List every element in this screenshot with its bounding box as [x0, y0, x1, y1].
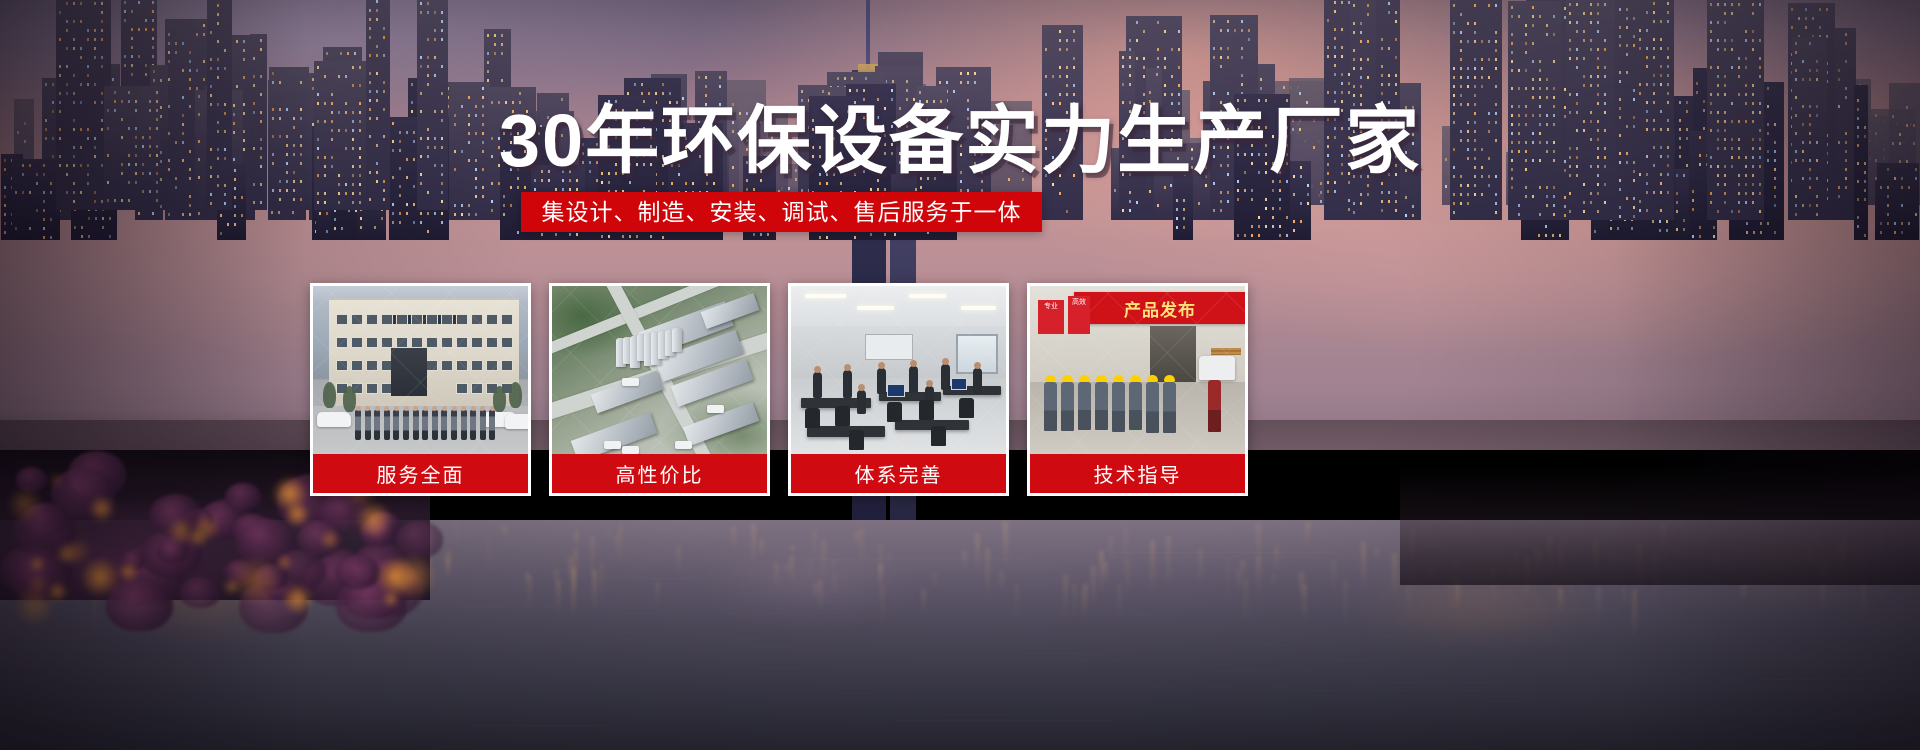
window-light	[1045, 48, 1047, 51]
window-light	[1731, 48, 1733, 51]
window-light	[1283, 86, 1285, 89]
window-light	[705, 76, 707, 79]
window-light	[1653, 74, 1655, 77]
window-light	[1511, 6, 1513, 9]
window-light	[434, 29, 436, 32]
window-light	[1546, 87, 1548, 90]
window-light	[374, 226, 376, 229]
window-light	[1569, 12, 1571, 15]
window-light	[974, 81, 976, 84]
window-light	[1532, 15, 1534, 18]
window-light	[441, 92, 443, 95]
window-light	[1626, 53, 1628, 56]
window-light	[1731, 66, 1733, 69]
window-light	[1059, 75, 1061, 78]
window-light	[1279, 225, 1281, 228]
window-light	[1157, 57, 1159, 60]
window-light	[662, 92, 664, 95]
window-light	[1453, 76, 1455, 79]
window-light	[1816, 69, 1818, 72]
window-light	[1646, 209, 1648, 212]
window-light	[1248, 29, 1250, 32]
window-light	[243, 76, 245, 79]
window-light	[203, 33, 205, 36]
window-light	[1626, 17, 1628, 20]
window-light	[1532, 24, 1534, 27]
window-light	[946, 81, 948, 84]
window-light	[1334, 28, 1336, 31]
window-light	[1511, 42, 1513, 45]
window-light	[1066, 93, 1068, 96]
window-light	[1381, 200, 1383, 203]
window-light	[1511, 33, 1513, 36]
window-light	[967, 81, 969, 84]
window-light	[1717, 39, 1719, 42]
window-light	[1251, 189, 1253, 192]
window-light	[1198, 202, 1200, 205]
window-light	[1164, 66, 1166, 69]
window-light	[1553, 33, 1555, 36]
window-light	[1864, 189, 1866, 192]
window-light	[1802, 204, 1804, 207]
window-light	[487, 70, 489, 73]
window-light	[1360, 193, 1362, 196]
window-light	[1633, 17, 1635, 20]
window-light	[1066, 48, 1068, 51]
window-light	[482, 186, 484, 189]
window-light	[1388, 191, 1390, 194]
window-light	[1353, 94, 1355, 97]
window-light	[260, 39, 262, 42]
window-light	[1481, 85, 1483, 88]
window-light	[1901, 231, 1903, 234]
window-light	[1864, 234, 1866, 237]
window-light	[271, 211, 273, 214]
window-light	[1460, 202, 1462, 205]
window-light	[1767, 87, 1769, 90]
window-light	[441, 200, 443, 203]
window-light	[196, 33, 198, 36]
window-light	[1597, 48, 1599, 51]
window-light	[1353, 31, 1355, 34]
window-light	[1590, 201, 1592, 204]
window-light	[1546, 195, 1548, 198]
window-light	[4, 195, 6, 198]
window-light	[319, 212, 321, 215]
window-light	[1272, 216, 1274, 219]
window-light	[1660, 38, 1662, 41]
window-light	[1272, 207, 1274, 210]
window-light	[1597, 192, 1599, 195]
window-light	[1590, 84, 1592, 87]
window-light	[1745, 66, 1747, 69]
window-light	[411, 83, 413, 86]
window-light	[1260, 87, 1262, 90]
window-light	[1590, 192, 1592, 195]
window-light	[1327, 55, 1329, 58]
window-light	[1488, 4, 1490, 7]
window-light	[1717, 84, 1719, 87]
window-light	[203, 60, 205, 63]
window-light	[1724, 39, 1726, 42]
window-light	[1590, 75, 1592, 78]
window-light	[1653, 11, 1655, 14]
window-light	[1653, 2, 1655, 5]
window-light	[138, 212, 140, 215]
window-light	[1710, 201, 1712, 204]
window-light	[340, 52, 342, 55]
window-light	[1251, 198, 1253, 201]
window-light	[220, 214, 222, 217]
window-light	[427, 83, 429, 86]
window-light	[1759, 3, 1761, 6]
window-light	[241, 196, 243, 199]
window-light	[1597, 66, 1599, 69]
window-light	[1845, 33, 1847, 36]
window-light	[1474, 193, 1476, 196]
window-light	[182, 69, 184, 72]
window-light	[1272, 189, 1274, 192]
window-light	[1724, 3, 1726, 6]
window-light	[1525, 186, 1527, 189]
window-light	[236, 40, 238, 43]
window-light	[1546, 78, 1548, 81]
window-light	[1453, 193, 1455, 196]
window-light	[1334, 37, 1336, 40]
window-light	[1495, 211, 1497, 214]
window-light	[1073, 30, 1075, 33]
window-light	[1129, 209, 1131, 212]
window-light	[1908, 222, 1910, 225]
window-light	[1731, 210, 1733, 213]
window-light	[1759, 66, 1761, 69]
window-light	[1539, 69, 1541, 72]
window-light	[1460, 184, 1462, 187]
window-light	[1569, 48, 1571, 51]
window-light	[1066, 39, 1068, 42]
window-light	[1367, 40, 1369, 43]
window-light	[1279, 198, 1281, 201]
window-light	[1395, 83, 1397, 86]
window-light	[15, 191, 17, 194]
window-light	[1812, 17, 1814, 20]
window-light	[43, 200, 45, 203]
window-light	[1752, 39, 1754, 42]
window-light	[1234, 29, 1236, 32]
window-light	[1143, 30, 1145, 33]
window-light	[1692, 190, 1694, 193]
window-light	[1646, 65, 1648, 68]
window-light	[1838, 78, 1840, 81]
window-light	[1594, 230, 1596, 233]
window-light	[1576, 30, 1578, 33]
window-light	[569, 188, 571, 191]
window-light	[1258, 216, 1260, 219]
window-light	[1667, 47, 1669, 50]
window-light	[1604, 39, 1606, 42]
window-light	[189, 69, 191, 72]
window-light	[1639, 83, 1641, 86]
window-light	[1826, 8, 1828, 11]
window-light	[1583, 57, 1585, 60]
window-light	[1460, 40, 1462, 43]
window-light	[1518, 204, 1520, 207]
window-light	[1066, 75, 1068, 78]
window-light	[1646, 11, 1648, 14]
window-light	[1460, 49, 1462, 52]
window-light	[1626, 26, 1628, 29]
window-light	[1213, 209, 1215, 212]
window-light	[4, 213, 6, 216]
window-light	[1227, 20, 1229, 23]
window-light	[1251, 225, 1253, 228]
window-light	[1795, 42, 1797, 45]
window-light	[487, 52, 489, 55]
window-light	[1360, 67, 1362, 70]
window-light	[1286, 216, 1288, 219]
window-light	[854, 236, 856, 239]
window-light	[1171, 93, 1173, 96]
window-light	[1667, 92, 1669, 95]
window-light	[1237, 198, 1239, 201]
window-light	[420, 221, 422, 224]
window-light	[1753, 231, 1755, 234]
window-light	[1538, 234, 1540, 237]
window-light	[1220, 47, 1222, 50]
window-light	[43, 218, 45, 221]
window-light	[74, 226, 76, 229]
window-light	[1241, 74, 1243, 77]
window-light	[541, 233, 543, 236]
window-light	[1894, 222, 1896, 225]
window-light	[1795, 213, 1797, 216]
window-light	[1059, 48, 1061, 51]
window-light	[1710, 30, 1712, 33]
window-light	[1805, 8, 1807, 11]
window-light	[1597, 210, 1599, 213]
window-light	[1731, 39, 1733, 42]
window-light	[189, 78, 191, 81]
window-light	[1279, 234, 1281, 237]
window-light	[1692, 199, 1694, 202]
window-light	[576, 188, 578, 191]
window-light	[1660, 209, 1662, 212]
window-light	[1353, 22, 1355, 25]
window-light	[1745, 201, 1747, 204]
window-light	[1495, 31, 1497, 34]
window-light	[1597, 3, 1599, 6]
window-light	[354, 52, 356, 55]
window-light	[1646, 56, 1648, 59]
window-light	[392, 203, 394, 206]
window-light	[1576, 93, 1578, 96]
window-light	[317, 201, 319, 204]
window-light	[1286, 234, 1288, 237]
window-light	[906, 80, 908, 83]
window-light	[112, 78, 114, 81]
window-light	[1710, 66, 1712, 69]
window-light	[719, 76, 721, 79]
window-light	[1901, 204, 1903, 207]
window-light	[1136, 21, 1138, 24]
window-light	[434, 38, 436, 41]
window-light	[1327, 19, 1329, 22]
window-light	[15, 227, 17, 230]
window-light	[1164, 84, 1166, 87]
window-light	[1220, 191, 1222, 194]
window-light	[243, 49, 245, 52]
window-light	[1619, 35, 1621, 38]
window-light	[1334, 64, 1336, 67]
window-light	[884, 188, 886, 191]
window-light	[753, 233, 755, 236]
window-light	[1738, 201, 1740, 204]
window-light	[1699, 226, 1701, 229]
window-light	[1646, 191, 1648, 194]
window-light	[1149, 190, 1151, 193]
window-light	[1488, 40, 1490, 43]
window-light	[1481, 67, 1483, 70]
window-light	[168, 33, 170, 36]
window-light	[406, 212, 408, 215]
window-light	[1164, 93, 1166, 96]
window-light	[1699, 235, 1701, 238]
window-light	[1745, 57, 1747, 60]
window-light	[392, 221, 394, 224]
window-light	[43, 227, 45, 230]
window-light	[1260, 78, 1262, 81]
window-light	[1251, 234, 1253, 237]
window-light	[441, 212, 443, 215]
window-light	[1583, 75, 1585, 78]
window-light	[1122, 65, 1124, 68]
window-light	[50, 191, 52, 194]
window-light	[906, 89, 908, 92]
window-light	[629, 235, 631, 238]
window-light	[81, 226, 83, 229]
window-light	[1300, 220, 1302, 223]
window-light	[1738, 75, 1740, 78]
window-light	[1178, 30, 1180, 33]
window-light	[1220, 65, 1222, 68]
window-light	[1838, 69, 1840, 72]
window-light	[399, 185, 401, 188]
window-light	[434, 212, 436, 215]
window-light	[1388, 47, 1390, 50]
window-light	[1659, 229, 1661, 232]
window-light	[1805, 26, 1807, 29]
window-light	[1388, 2, 1390, 5]
window-light	[1129, 56, 1131, 59]
window-light	[1157, 21, 1159, 24]
window-light	[1353, 58, 1355, 61]
window-light	[1518, 15, 1520, 18]
window-light	[1129, 65, 1131, 68]
window-light	[334, 218, 336, 221]
window-light	[1412, 205, 1414, 208]
window-light	[253, 201, 255, 204]
window-light	[1453, 22, 1455, 25]
window-light	[1467, 85, 1469, 88]
window-light	[1381, 83, 1383, 86]
window-light	[182, 42, 184, 45]
window-light	[1731, 12, 1733, 15]
window-light	[1341, 82, 1343, 85]
window-light	[29, 227, 31, 230]
window-light	[1604, 201, 1606, 204]
window-light	[1887, 222, 1889, 225]
window-light	[1353, 49, 1355, 52]
window-light	[1327, 190, 1329, 193]
window-light	[1539, 186, 1541, 189]
window-light	[1334, 73, 1336, 76]
window-light	[1327, 91, 1329, 94]
window-light	[1495, 4, 1497, 7]
window-light	[1576, 3, 1578, 6]
window-light	[1481, 40, 1483, 43]
window-light	[1576, 66, 1578, 69]
window-light	[1809, 204, 1811, 207]
window-light	[1646, 29, 1648, 32]
window-light	[420, 56, 422, 59]
window-light	[562, 188, 564, 191]
window-light	[1183, 226, 1185, 229]
window-light	[1388, 83, 1390, 86]
window-light	[1467, 22, 1469, 25]
window-light	[1752, 93, 1754, 96]
window-light	[1610, 227, 1612, 230]
window-light	[253, 84, 255, 87]
window-light	[1474, 22, 1476, 25]
window-light	[1887, 186, 1889, 189]
window-light	[360, 226, 362, 229]
window-light	[1488, 58, 1490, 61]
window-light	[1341, 73, 1343, 76]
window-light	[1759, 39, 1761, 42]
window-light	[392, 212, 394, 215]
window-light	[1149, 91, 1151, 94]
window-light	[1619, 215, 1621, 218]
window-light	[1583, 39, 1585, 42]
window-light	[1320, 200, 1322, 203]
window-light	[1752, 48, 1754, 51]
window-light	[482, 195, 484, 198]
window-light	[1495, 85, 1497, 88]
window-light	[1170, 184, 1172, 187]
window-light	[1746, 231, 1748, 234]
window-light	[919, 91, 921, 94]
window-light	[1367, 76, 1369, 79]
window-light	[1334, 55, 1336, 58]
window-light	[1597, 21, 1599, 24]
window-light	[767, 233, 769, 236]
window-light	[1334, 190, 1336, 193]
window-light	[1164, 186, 1166, 189]
window-light	[1604, 93, 1606, 96]
window-light	[399, 194, 401, 197]
window-light	[1752, 12, 1754, 15]
window-light	[1639, 29, 1641, 32]
window-light	[1745, 192, 1747, 195]
window-light	[468, 204, 470, 207]
window-light	[434, 56, 436, 59]
window-light	[441, 221, 443, 224]
window-light	[519, 92, 521, 95]
window-light	[1334, 46, 1336, 49]
window-light	[1066, 210, 1068, 213]
window-light	[1474, 40, 1476, 43]
window-light	[253, 57, 255, 60]
